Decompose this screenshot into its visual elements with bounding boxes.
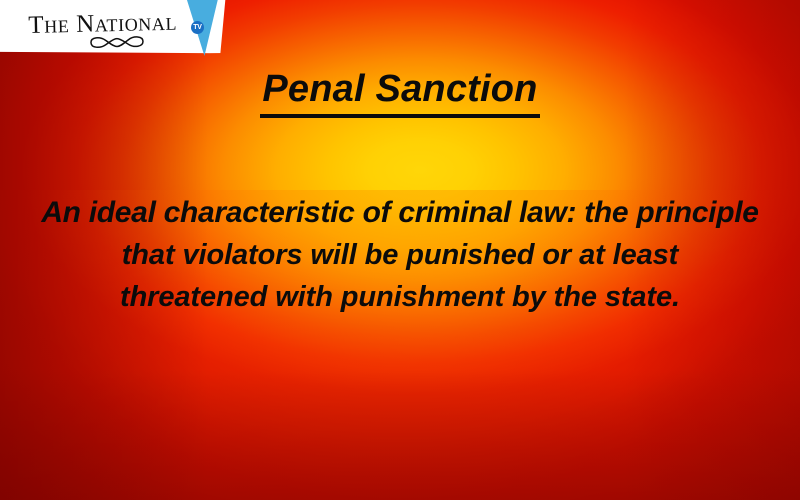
body-line-2: that violators will be punished or at le… (0, 234, 800, 276)
logo-tv-badge-icon: TV (191, 21, 204, 34)
body-line-3: threatened with punishment by the state. (0, 276, 800, 318)
page-title-text: Penal Sanction (260, 68, 539, 118)
body-line-1: An ideal characteristic of criminal law:… (0, 192, 800, 234)
slide-canvas: The National TV Penal Sanction An ideal … (0, 0, 800, 500)
body-text-block: An ideal characteristic of criminal law:… (0, 192, 800, 318)
logo-swash-flourish-icon (88, 32, 146, 53)
page-title: Penal Sanction (0, 68, 800, 118)
